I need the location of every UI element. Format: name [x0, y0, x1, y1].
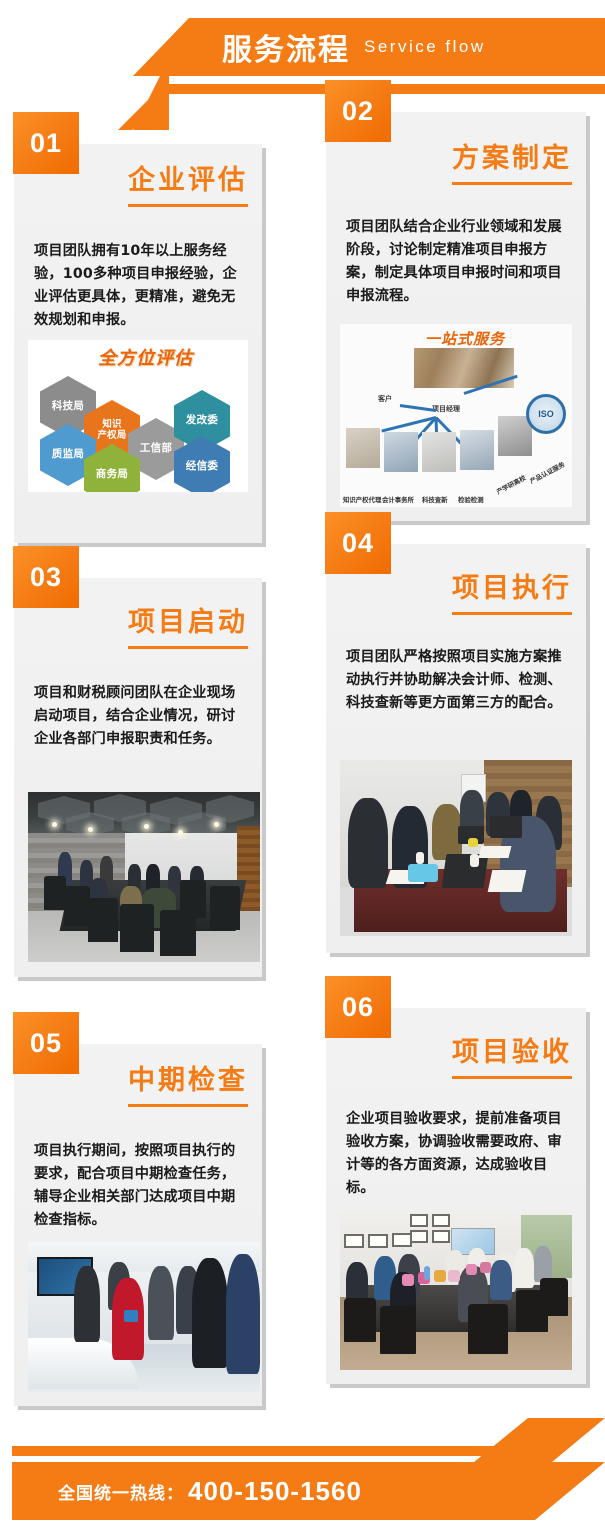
onestop-arrow-1: [400, 404, 436, 412]
step-title-01: 企业评估: [128, 158, 248, 197]
header-title-group: 服务流程 Service flow: [222, 24, 486, 70]
hex-diagram: 全方位评估 科技局 知识产权局 质监局 工信部 商务局 发改委 经信委: [28, 340, 248, 492]
footer-hotline-banner: 全国统一热线： 400-150-1560: [0, 1418, 605, 1538]
step-title-06: 项目验收: [452, 1030, 572, 1069]
photo-boardroom: [340, 1212, 572, 1370]
onestop-branch-label-3: 科技查新: [422, 495, 448, 504]
onestop-branch-label-4: 检验检测: [458, 495, 484, 504]
step-title-05: 中期检查: [128, 1058, 248, 1097]
step-body-04: 项目团队严格按照项目实施方案推动执行并协助解决会计师、检测、科技查新等更方面第三…: [346, 646, 570, 715]
onestop-label-manager: 项目经理: [432, 404, 460, 414]
photo-conference-room: [28, 792, 260, 962]
onestop-branch-label-5: 产学研高校: [495, 473, 527, 496]
step-card-02[interactable]: 02 方案制定 项目团队结合企业行业领域和发展阶段，讨论制定精准项目申报方案，制…: [326, 112, 586, 521]
step-body-01: 项目团队拥有10年以上服务经验，100多种项目申报经验，企业评估更具体，更精准，…: [34, 240, 246, 332]
step-title-rule-01: [128, 204, 248, 207]
step-title-rule-03: [128, 646, 248, 649]
step-card-04[interactable]: 04 项目执行 项目团队严格按照项目实施方案推动执行并协助解决会计师、检测、科技…: [326, 544, 586, 953]
onestop-branch-label-1: 知识产权代理: [343, 495, 381, 504]
step-title-03: 项目启动: [128, 600, 248, 639]
step-number-badge-02: 02: [325, 80, 391, 142]
onestop-node-testing: [460, 430, 494, 470]
onestop-label-customer: 客户: [378, 394, 392, 404]
step-body-03: 项目和财税顾问团队在企业现场启动项目，结合企业情况，研讨企业各部门申报职责和任务…: [34, 682, 246, 751]
onestop-diagram-title: 一站式服务: [390, 328, 540, 349]
step-header-04: 项目执行: [452, 566, 572, 615]
footer-text-group: 全国统一热线： 400-150-1560: [58, 1462, 362, 1520]
page-subtitle: Service flow: [364, 37, 486, 57]
onestop-diagram: 一站式服务 客户 项目经理 ISO 知识产权代理 会计事务所 科技查新 检验检测…: [340, 324, 572, 507]
step-body-02: 项目团队结合企业行业领域和发展阶段，讨论制定精准项目申报方案，制定具体项目申报时…: [346, 216, 570, 308]
step-number-badge-04: 04: [325, 512, 391, 574]
step-card-06[interactable]: 06 项目验收 企业项目验收要求，提前准备项目验收方案，协调验收需要政府、审计等…: [326, 1008, 586, 1384]
step-body-06: 企业项目验收要求，提前准备项目验收方案，协调验收需要政府、审计等的各方面资源，达…: [346, 1108, 570, 1200]
step-card-01[interactable]: 01 企业评估 项目团队拥有10年以上服务经验，100多种项目申报经验，企业评估…: [14, 144, 262, 543]
step-title-rule-06: [452, 1076, 572, 1079]
step-card-03[interactable]: 03 项目启动 项目和财税顾问团队在企业现场启动项目，结合企业情况，研讨企业各部…: [14, 578, 262, 977]
step-number-badge-05: 05: [13, 1012, 79, 1074]
step-title-rule-05: [128, 1104, 248, 1107]
hex-diagram-title: 全方位评估: [98, 344, 246, 370]
step-body-05: 项目执行期间，按照项目执行的要求，配合项目中期检查任务，辅导企业相关部门达成项目…: [34, 1140, 246, 1232]
hotline-number[interactable]: 400-150-1560: [188, 1476, 362, 1507]
step-header-06: 项目验收: [452, 1030, 572, 1079]
step-title-04: 项目执行: [452, 566, 572, 605]
step-title-rule-02: [452, 182, 572, 185]
hotline-label: 全国统一热线：: [58, 1479, 184, 1504]
step-number-badge-01: 01: [13, 112, 79, 174]
onestop-node-ip: [346, 428, 380, 468]
photo-showroom-tour: [28, 1242, 260, 1392]
step-title-rule-04: [452, 612, 572, 615]
step-header-05: 中期检查: [128, 1058, 248, 1107]
photo-meeting-laptops: [340, 760, 572, 936]
onestop-node-accounting: [384, 432, 418, 472]
step-title-02: 方案制定: [452, 136, 572, 175]
onestop-branch-label-2: 会计事务所: [382, 495, 414, 504]
step-card-05[interactable]: 05 中期检查 项目执行期间，按照项目执行的要求，配合项目中期检查任务，辅导企业…: [14, 1044, 262, 1406]
onestop-node-search: [422, 432, 456, 472]
step-header-03: 项目启动: [128, 600, 248, 649]
service-flow-infographic: 服务流程 Service flow 01 企业评估 项目团队拥有10年以上服务经…: [0, 0, 605, 1538]
step-number-badge-03: 03: [13, 546, 79, 608]
onestop-certification-seal: ISO: [526, 394, 566, 434]
step-number-badge-06: 06: [325, 976, 391, 1038]
footer-stripe: [12, 1446, 510, 1456]
onestop-branch-label-6: 产品认证服务: [528, 460, 566, 486]
header-banner: 服务流程 Service flow: [0, 0, 605, 112]
page-title: 服务流程: [222, 25, 350, 69]
step-header-02: 方案制定: [452, 136, 572, 185]
step-header-01: 企业评估: [128, 158, 248, 207]
